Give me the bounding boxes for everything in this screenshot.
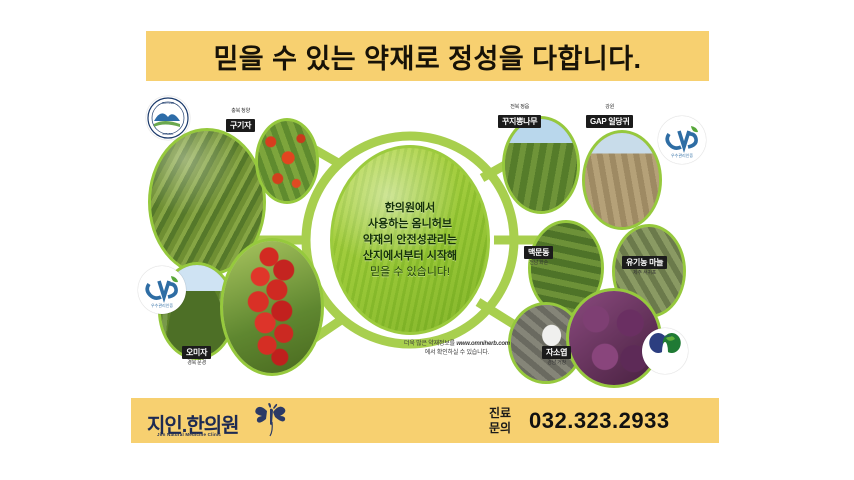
center-line-1: 한의원에서 [385,200,436,216]
cert-badge-mountain-mark: CERTIFIED NATURAL [146,96,190,140]
label-kkujippong-region: 전북 정읍 [498,104,541,111]
footer-note-prefix: 더욱 많은 약재정보를 [404,341,456,347]
label-omija-region: 경북 문경 [182,360,211,367]
footer-note-url: www.omniherb.com [456,341,510,347]
inquiry-label: 진료 문의 [483,406,517,436]
gap-green-icon: 우수관리인증 [658,116,706,164]
label-maengmundong: 맥문동 전남 화순 [524,242,553,267]
svg-text:우수관리인증: 우수관리인증 [151,302,173,308]
label-garlic: 유기농 마늘 제주 서귀포 [622,252,667,277]
footer-note-line2: 에서 확인하실 수 있습니다. [352,349,562,358]
label-maengmundong-chip: 맥문동 [524,246,553,259]
center-line-4: 산지에서부터 시작해 [363,248,457,264]
label-kkujippong-chip: 꾸지뽕나무 [498,115,541,128]
svg-text:ORGANIC: ORGANIC [659,334,671,338]
photo-fill [258,121,316,201]
svg-text:CERTIFIED: CERTIFIED [162,102,175,105]
label-ildanggwi-chip: GAP 일당귀 [586,115,633,128]
page-title: 믿을 수 있는 약재로 정성을 다합니다. [213,37,641,76]
slide-canvas: 믿을 수 있는 약재로 정성을 다합니다. [0,0,854,480]
bottom-bar: 지인.한의원 Jiin Natural Medicine Clinic 진료 문… [131,398,719,443]
cert-badge-gap-green: 우수관리인증 [658,116,706,164]
svg-text:NATURAL: NATURAL [163,133,175,136]
label-maengmundong-region: 전남 화순 [524,260,553,267]
mountain-mark-icon: CERTIFIED NATURAL [146,96,190,140]
cert-badge-organic: ORGANIC [642,328,688,374]
diagram-artwork: 한의원에서 사용하는 옴니허브 약재의 안전성관리는 산지에서부터 시작해 믿을… [130,90,740,390]
label-gugija: 충북 청양 구기자 [226,108,255,133]
label-gugija-region: 충북 청양 [226,108,255,115]
svg-text:우수관리인증: 우수관리인증 [671,152,693,158]
organic-mark-icon: ORGANIC [642,328,688,374]
label-garlic-region: 제주 서귀포 [622,270,667,277]
photo-bubble-gugija-fruit [255,118,319,204]
label-omija-chip: 오미자 [182,346,211,359]
photo-fill [223,241,321,373]
photo-bubble-kkujippong [502,116,580,214]
cert-badge-gap-blue: 우수관리인증 [138,266,186,314]
center-line-3: 약재의 안전성관리는 [363,232,457,248]
label-jasoyeop-region: 경남 거창 [542,360,571,367]
phone-number: 032.323.2933 [529,408,670,434]
gap-blue-icon: 우수관리인증 [138,266,186,314]
clinic-logo: 지인.한의원 Jiin Natural Medicine Clinic [145,403,330,443]
label-kkujippong: 전북 정읍 꾸지뽕나무 [498,104,541,129]
label-gugija-chip: 구기자 [226,119,255,132]
label-garlic-chip: 유기농 마늘 [622,256,667,269]
photo-fill [585,133,659,227]
label-omija: 오미자 경북 문경 [182,342,211,367]
footer-note: 더욱 많은 약재정보를 www.omniherb.com 에서 확인하실 수 있… [352,340,562,358]
center-line-5: 믿을 수 있습니다! [370,264,450,280]
butterfly-icon [253,403,293,437]
inquiry-label-line2: 문의 [483,421,517,436]
title-banner: 믿을 수 있는 약재로 정성을 다합니다. [146,31,709,81]
footer-note-line1: 더욱 많은 약재정보를 www.omniherb.com [352,340,562,349]
center-line-2: 사용하는 옴니허브 [368,216,452,232]
clinic-logo-english: Jiin Natural Medicine Clinic [157,432,221,437]
center-message-circle: 한의원에서 사용하는 옴니허브 약재의 안전성관리는 산지에서부터 시작해 믿을… [330,145,490,335]
photo-fill [505,119,577,211]
photo-bubble-omija-berries [220,238,324,376]
label-ildanggwi-region: 강원 [586,104,633,111]
label-ildanggwi: 강원 GAP 일당귀 [586,104,633,129]
photo-bubble-ildanggwi [582,130,662,230]
inquiry-label-line1: 진료 [483,406,517,421]
